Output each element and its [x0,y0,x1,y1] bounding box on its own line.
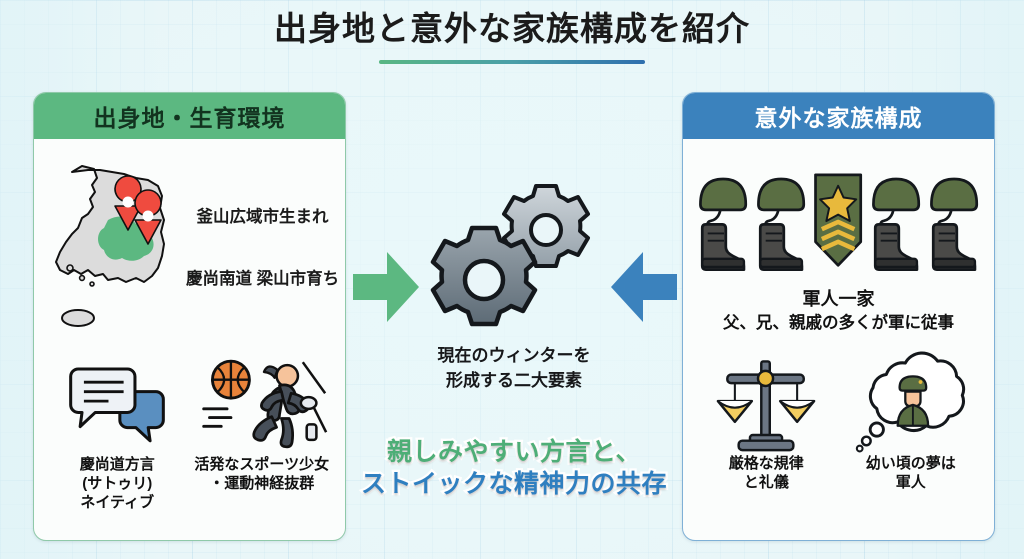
feature-dialect-caption: 慶尚道方言 (サトゥリ) ネイティブ [80,455,155,513]
feature-discipline-caption: 厳格な規律 と礼儀 [729,454,804,492]
army-helmet-icon [926,159,982,277]
feature-dialect-line-1: 慶尚道方言 [80,455,155,474]
army-helmet-icon [868,159,924,277]
balance-scales-icon [714,354,818,450]
right-panel-header: 意外な家族構成 [683,93,994,139]
running-athlete-icon [194,355,330,451]
combat-boot-icon [933,224,975,269]
page-title-area: 出身地と意外な家族構成を紹介 [0,8,1024,64]
feature-dialect-line-3: ネイティブ [80,493,155,512]
army-helmet-icon [753,159,809,277]
center-caption: 現在のウィンターを 形成する二大要素 [346,344,682,393]
feature-dialect: 慶尚道方言 (サトゥリ) ネイティブ [46,355,189,513]
center-column: 現在のウィンターを 形成する二大要素 親しみやすい方言と、 ストイックな精神力の… [346,92,682,541]
feature-sports-line-1: 活発なスポーツ少女 [194,455,329,474]
right-feature-row: 厳格な規律 と礼儀 [695,354,982,492]
army-helmet-icon [695,159,751,277]
feature-dream-caption: 幼い頃の夢は 軍人 [866,454,956,492]
summary-highlight-line-1: 親しみやすい方言と、 [346,437,682,469]
feature-discipline-line-1: 厳格な規律 [729,454,804,473]
combat-boot-icon [875,224,917,269]
birthplace-texts: 釜山広域市生まれ 慶尚南道 梁山市育ち [186,203,339,297]
birthplace-line-2: 慶尚南道 梁山市育ち [186,265,339,289]
feature-dream: 幼い頃の夢は 軍人 [840,354,983,492]
center-caption-line-2: 形成する二大要素 [346,369,682,394]
feature-sports-caption: 活発なスポーツ少女 ・運動神経抜群 [194,455,329,493]
combat-boot-icon [760,224,802,269]
two-gears-icon [406,182,626,332]
combat-boot-icon [702,224,744,269]
left-panel: 出身地・生育環境 [33,92,346,541]
birthplace-line-1: 釜山広域市生まれ [186,203,339,227]
military-caption-primary: 軍人一家 [695,287,982,312]
left-panel-body: 釜山広域市生まれ 慶尚南道 梁山市育ち 慶尚道方言 (サトゥリ) [34,139,345,540]
military-caption-secondary: 父、兄、親戚の多くが軍に従事 [695,312,982,336]
military-family-caption: 軍人一家 父、兄、親戚の多くが軍に従事 [695,287,982,336]
birthplace-map-row: 釜山広域市生まれ 慶尚南道 梁山市育ち [46,149,333,345]
rank-insignia-icon [811,165,865,277]
military-family-icons [695,149,982,277]
feature-sports: 活発なスポーツ少女 ・運動神経抜群 [191,355,334,513]
feature-dialect-line-2: (サトゥリ) [80,474,155,493]
speech-bubbles-icon [65,355,169,451]
summary-highlight-line-2: ストイックな精神力の共存 [346,469,682,501]
feature-discipline: 厳格な規律 と礼儀 [695,354,838,492]
page-title: 出身地と意外な家族構成を紹介 [0,8,1024,51]
feature-discipline-line-2: と礼儀 [729,473,804,492]
right-panel-body: 軍人一家 父、兄、親戚の多くが軍に従事 [683,139,994,540]
feature-sports-line-2: ・運動神経抜群 [194,474,329,493]
title-underline [379,60,645,64]
feature-dream-line-2: 軍人 [866,473,956,492]
korea-map-icon [48,158,180,342]
left-feature-row: 慶尚道方言 (サトゥリ) ネイティブ [46,345,333,513]
summary-highlight: 親しみやすい方言と、 ストイックな精神力の共存 [346,437,682,500]
feature-dream-line-1: 幼い頃の夢は [866,454,956,473]
left-panel-header: 出身地・生育環境 [34,93,345,139]
center-caption-line-1: 現在のウィンターを [346,344,682,369]
right-panel: 意外な家族構成 [682,92,995,541]
thought-bubble-soldier-icon [854,354,968,450]
